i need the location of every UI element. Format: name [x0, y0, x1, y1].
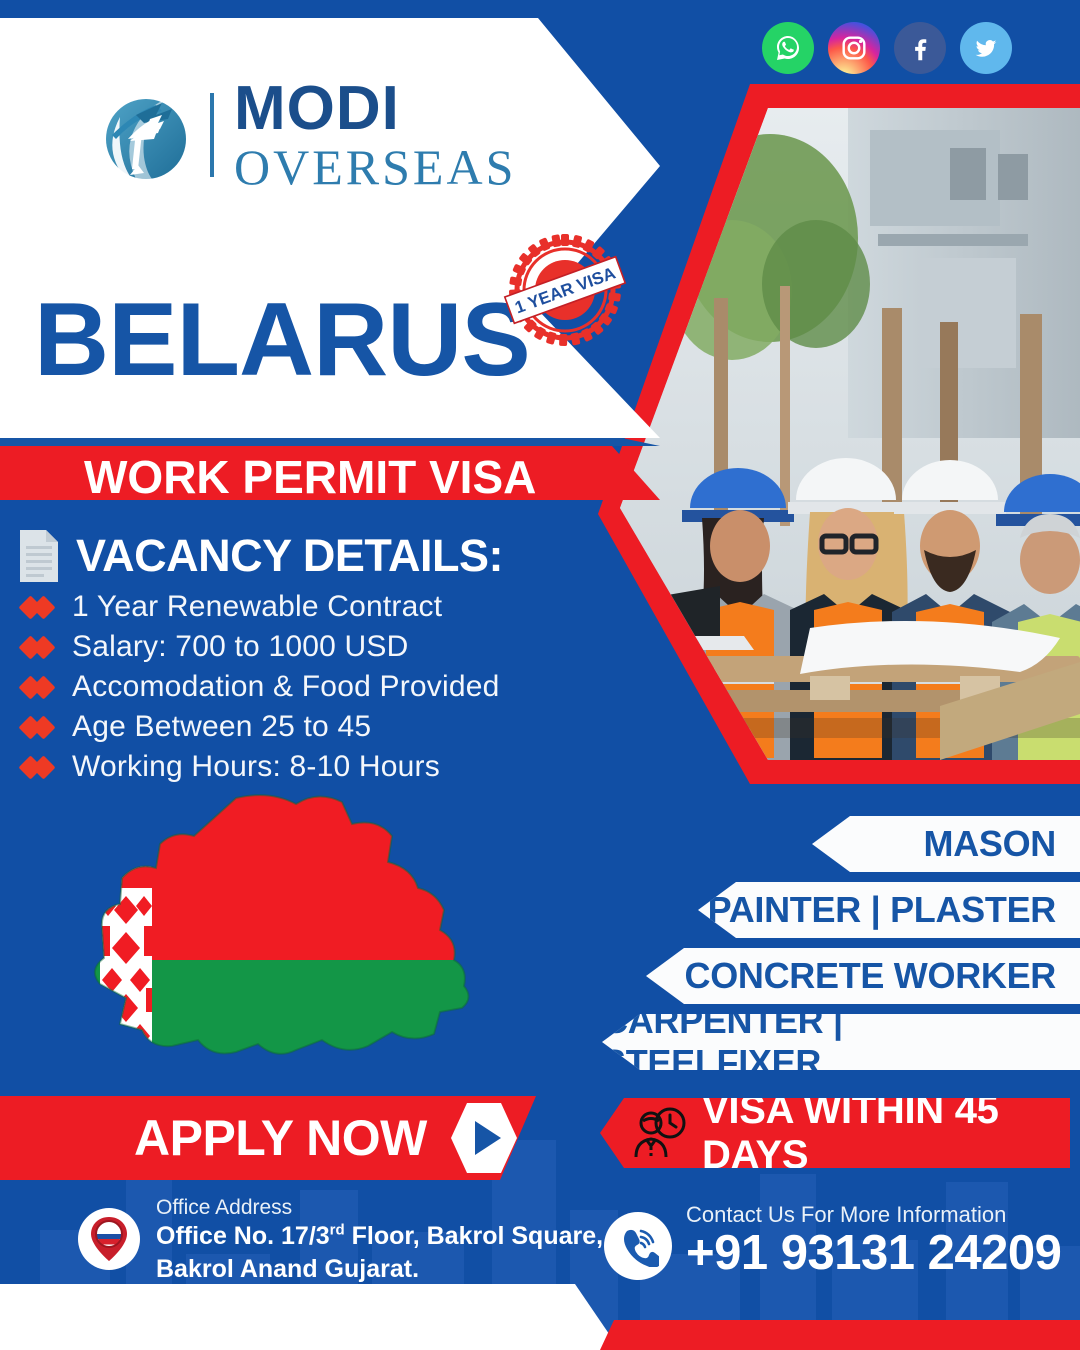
subtitle-band: WORK PERMIT VISA	[0, 438, 660, 500]
footer-red-band	[600, 1320, 1080, 1350]
document-icon	[16, 528, 62, 584]
job-label: PAINTER | PLASTER	[708, 889, 1056, 931]
footer-white-band	[0, 1284, 620, 1350]
vacancy-item: 1 Year Renewable Contract	[22, 588, 500, 626]
job-label: CONCRETE WORKER	[685, 955, 1057, 997]
person-clock-icon	[630, 1107, 688, 1159]
globe-airplane-logo-icon	[92, 83, 196, 187]
office-address-label: Office Address	[156, 1196, 292, 1219]
location-pin-icon	[78, 1208, 140, 1270]
address-ordinal: rd	[330, 1222, 345, 1239]
job-label: CARPENTER | STEELFIXER	[602, 1000, 1056, 1084]
page-title: BELARUS	[34, 288, 530, 392]
vacancy-item-label: Working Hours: 8-10 Hours	[72, 750, 440, 784]
office-address: Office Address Office No. 17/3rd Floor, …	[78, 1196, 603, 1286]
vacancy-item-label: Age Between 25 to 45	[72, 710, 371, 744]
diamond-bullet-icon	[22, 597, 58, 617]
logo-name-primary: MODI	[234, 78, 516, 140]
vacancy-list: 1 Year Renewable Contract Salary: 700 to…	[22, 588, 500, 788]
instagram-icon[interactable]	[828, 22, 880, 74]
job-banner[interactable]: CONCRETE WORKER	[646, 948, 1080, 1004]
office-address-line-2: Bakrol Anand Gujarat.	[156, 1253, 603, 1286]
job-banner[interactable]: PAINTER | PLASTER	[698, 882, 1080, 938]
subtitle-text: WORK PERMIT VISA	[84, 450, 536, 504]
apply-now-label: APPLY NOW	[134, 1109, 427, 1167]
contact-block: Contact Us For More Information +91 9313…	[604, 1196, 1061, 1280]
diamond-bullet-icon	[22, 637, 58, 657]
diamond-bullet-icon	[22, 757, 58, 777]
facebook-icon[interactable]	[894, 22, 946, 74]
subtitle-band-accent	[0, 438, 660, 446]
job-banner[interactable]: MASON	[812, 816, 1080, 872]
diamond-bullet-icon	[22, 717, 58, 737]
belarus-map-flag-icon	[88, 792, 518, 1072]
vacancy-item-label: 1 Year Renewable Contract	[72, 590, 442, 624]
vacancy-heading-row: VACANCY DETAILS:	[16, 528, 503, 584]
office-address-line-1: Office No. 17/3rd Floor, Bakrol Square,	[156, 1220, 603, 1253]
vacancy-item: Age Between 25 to 45	[22, 708, 500, 746]
contact-phone-number[interactable]: +91 93131 24209	[686, 1228, 1061, 1279]
phone-ringing-icon	[604, 1212, 672, 1280]
vacancy-item: Working Hours: 8-10 Hours	[22, 748, 500, 786]
contact-label: Contact Us For More Information	[686, 1202, 1061, 1228]
whatsapp-icon[interactable]	[762, 22, 814, 74]
logo-name-secondary: OVERSEAS	[234, 142, 516, 192]
address-street: Office No. 17/3	[156, 1222, 330, 1250]
logo-divider	[210, 93, 214, 177]
twitter-icon[interactable]	[960, 22, 1012, 74]
vacancy-item-label: Salary: 700 to 1000 USD	[72, 630, 408, 664]
vacancy-item-label: Accomodation & Food Provided	[72, 670, 500, 704]
job-label: MASON	[924, 823, 1057, 865]
address-floor: Floor, Bakrol Square,	[345, 1222, 603, 1250]
apply-now-button[interactable]: APPLY NOW	[0, 1096, 536, 1180]
visa-duration-badge: VISA WITHIN 45 DAYS	[600, 1098, 1070, 1168]
vacancy-item: Accomodation & Food Provided	[22, 668, 500, 706]
play-arrow-icon	[451, 1101, 517, 1175]
vacancy-item: Salary: 700 to 1000 USD	[22, 628, 500, 666]
diamond-bullet-icon	[22, 677, 58, 697]
social-icons	[762, 22, 1012, 74]
job-list: MASON PAINTER | PLASTER CONCRETE WORKER …	[580, 816, 1080, 1080]
visa-duration-label: VISA WITHIN 45 DAYS	[702, 1088, 1070, 1178]
job-banner[interactable]: CARPENTER | STEELFIXER	[602, 1014, 1080, 1070]
vacancy-heading: VACANCY DETAILS:	[76, 530, 503, 582]
poster-canvas: MODI OVERSEAS BELARUS	[0, 0, 1080, 1350]
brand-logo: MODI OVERSEAS	[92, 78, 516, 192]
one-year-visa-stamp: 1 YEAR VISA	[500, 232, 630, 354]
